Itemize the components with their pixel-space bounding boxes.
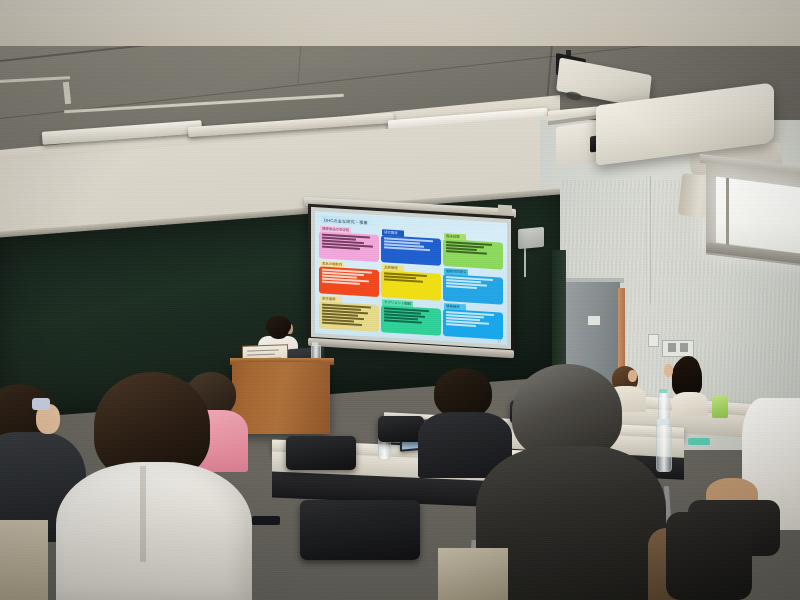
slide-card: 産学連携 (319, 295, 379, 332)
attendee-black-top-laptop-head (434, 368, 492, 418)
slide-card-body (443, 274, 503, 305)
slide-card: 情報発信 (443, 303, 503, 340)
bottle-cap (659, 389, 667, 393)
podium (232, 362, 330, 434)
presenter-hair (266, 316, 291, 334)
slide-card-text-line (446, 285, 478, 288)
speaker-icon (518, 227, 544, 249)
outlet-socket (680, 343, 688, 352)
shirt-seam (140, 466, 146, 562)
slide-card-body (319, 231, 379, 262)
attendee-side-long-hair-face (628, 370, 637, 382)
chair[interactable] (300, 500, 420, 560)
attendee-side-standing-hair (672, 358, 702, 396)
slide-card-text-line (384, 320, 422, 324)
slide-card: 品質管理 (381, 264, 441, 301)
attendee-front-white-shirt-torso (56, 462, 252, 600)
slide-card-text-line (384, 279, 423, 283)
light-switch-icon[interactable] (588, 316, 600, 325)
bottle-cap (657, 419, 669, 425)
projection-screen: DHCの主な研究・事業 健康食品の安全性研究開発臨床試験食品の機能性品質管理国際… (315, 211, 507, 345)
slide-card-body (381, 305, 441, 336)
green-folder (712, 396, 728, 418)
chair[interactable] (286, 436, 356, 470)
slide-card: 健康食品の安全性 (319, 225, 379, 262)
outlet-icon[interactable] (648, 334, 659, 347)
attendee-front-black-polo-lap (438, 548, 508, 600)
slide-card-text-line (446, 250, 488, 254)
slide-card: 食品の機能性 (319, 260, 379, 297)
slide-page-number: 12 (498, 339, 501, 343)
slide-card: 研究開発 (381, 229, 441, 266)
slide-card-body (381, 270, 441, 301)
slide-card: 国際共同研究 (443, 268, 503, 305)
ceiling-soffit (0, 0, 800, 46)
slide-card-text-line (322, 246, 360, 250)
water-bottle-side (658, 392, 670, 422)
green-folder (688, 438, 710, 445)
slide-card-text-line (322, 281, 360, 285)
water-bottle-center (656, 424, 672, 472)
attendee-side-standing-torso (672, 392, 708, 416)
slide-card: サプリメント開発 (381, 299, 441, 336)
smartphone[interactable] (252, 516, 280, 525)
lecture-hall-photo: DHCの主な研究・事業 健康食品の安全性研究開発臨床試験食品の機能性品質管理国際… (0, 0, 800, 600)
slide-card-body (443, 309, 503, 340)
slide-card-body (443, 239, 503, 270)
slide-title: DHCの主な研究・事業 (324, 216, 368, 226)
slide-content: DHCの主な研究・事業 健康食品の安全性研究開発臨床試験食品の機能性品質管理国際… (315, 211, 507, 345)
backpack (666, 512, 752, 600)
attendee-side-standing-face (664, 364, 673, 377)
wall-pipe (646, 176, 651, 304)
window-mullion (726, 178, 729, 250)
slide-card: 臨床試験 (443, 233, 503, 270)
slide-card-grid: 健康食品の安全性研究開発臨床試験食品の機能性品質管理国際共同研究産学連携サプリメ… (319, 225, 503, 339)
slide-card-body (319, 266, 379, 297)
slide-card-text-line (446, 323, 477, 326)
screen-housing-end (498, 205, 512, 214)
slide-card-body (381, 235, 441, 266)
outlet-socket (668, 343, 676, 352)
slide-card-body (319, 301, 379, 332)
speaker-wire (524, 247, 526, 277)
slide-card-text-line (322, 322, 362, 326)
attendee-left-hairband (32, 398, 50, 410)
attendee-left-lap (0, 520, 48, 600)
outlet-icon[interactable] (662, 340, 694, 357)
